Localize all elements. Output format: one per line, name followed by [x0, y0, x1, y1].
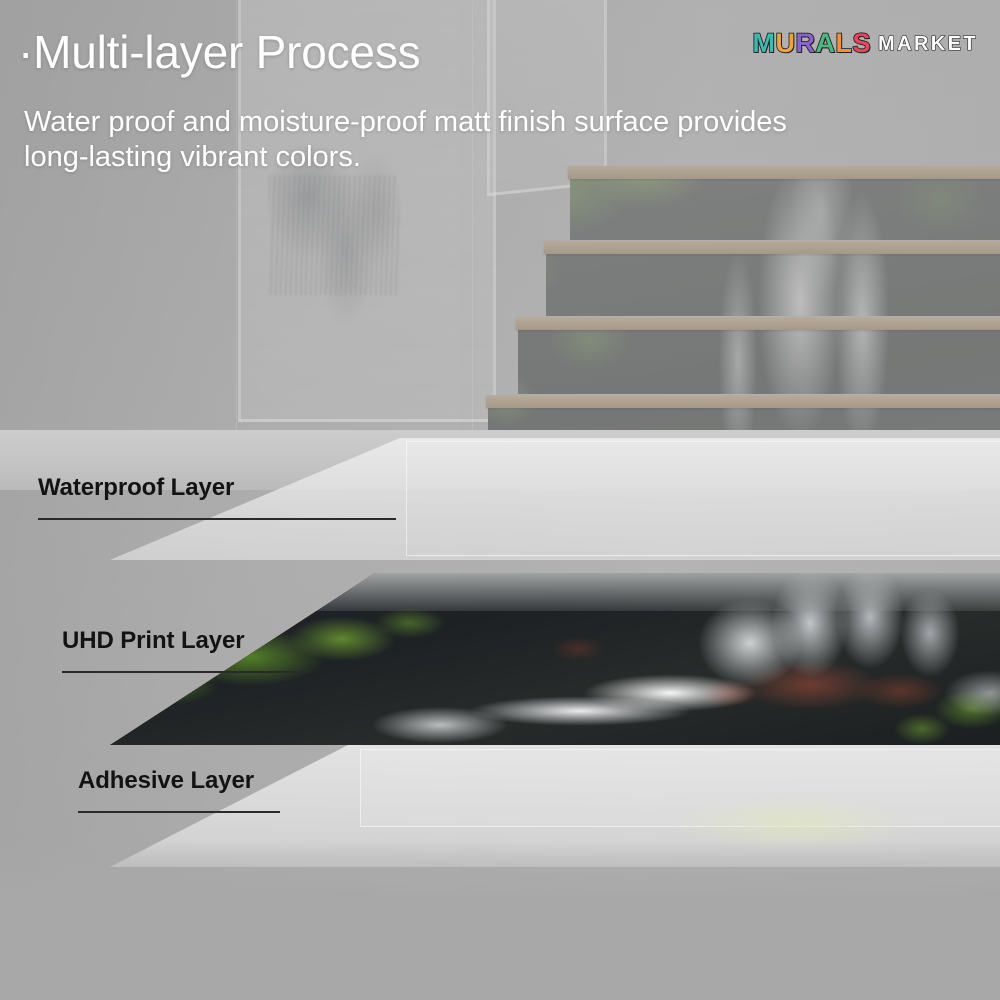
stair-tread — [516, 317, 1000, 330]
logo-murals-wordmark: MURALS — [753, 30, 872, 57]
layer-label-adhesive: Adhesive Layer — [78, 767, 254, 795]
logo-letter-a-3: A — [816, 30, 836, 57]
mural-haze — [518, 324, 1000, 394]
mural-haze — [570, 172, 1000, 240]
logo-letter-u-1: U — [776, 30, 796, 57]
stair-riser — [570, 172, 1000, 240]
logo-market-wordmark: MARKET — [878, 34, 978, 54]
infographic-canvas: Waterproof Layer UHD Print Layer Adhesiv… — [0, 0, 1000, 1000]
artwork-texture — [269, 175, 399, 295]
layer-label-uhd-print: UHD Print Layer — [62, 627, 245, 655]
stair-riser — [546, 248, 1000, 316]
leader-line-adhesive — [78, 811, 280, 813]
logo-letter-s-5: S — [853, 30, 872, 57]
logo-letter-l-4: L — [836, 30, 853, 57]
layer-label-waterproof: Waterproof Layer — [38, 474, 234, 502]
bottom-gradient-wash — [0, 840, 1000, 1000]
stair-tread — [544, 241, 1000, 254]
logo-letter-m-0: M — [753, 30, 776, 57]
sheet-inner-edge — [406, 441, 1000, 556]
leader-line-uhd-print — [62, 671, 312, 673]
title-text: Multi-layer Process — [33, 26, 420, 78]
brand-logo[interactable]: MURALS MARKET — [753, 30, 978, 57]
page-title: ·Multi-layer Process — [18, 25, 420, 79]
title-bullet: · — [18, 26, 33, 78]
mural-haze — [546, 248, 1000, 316]
leader-line-waterproof — [38, 518, 396, 520]
page-subtitle: Water proof and moisture-proof matt fini… — [24, 105, 824, 176]
logo-letter-r-2: R — [796, 30, 816, 57]
stair-riser — [518, 324, 1000, 394]
stair-tread — [486, 395, 1000, 408]
